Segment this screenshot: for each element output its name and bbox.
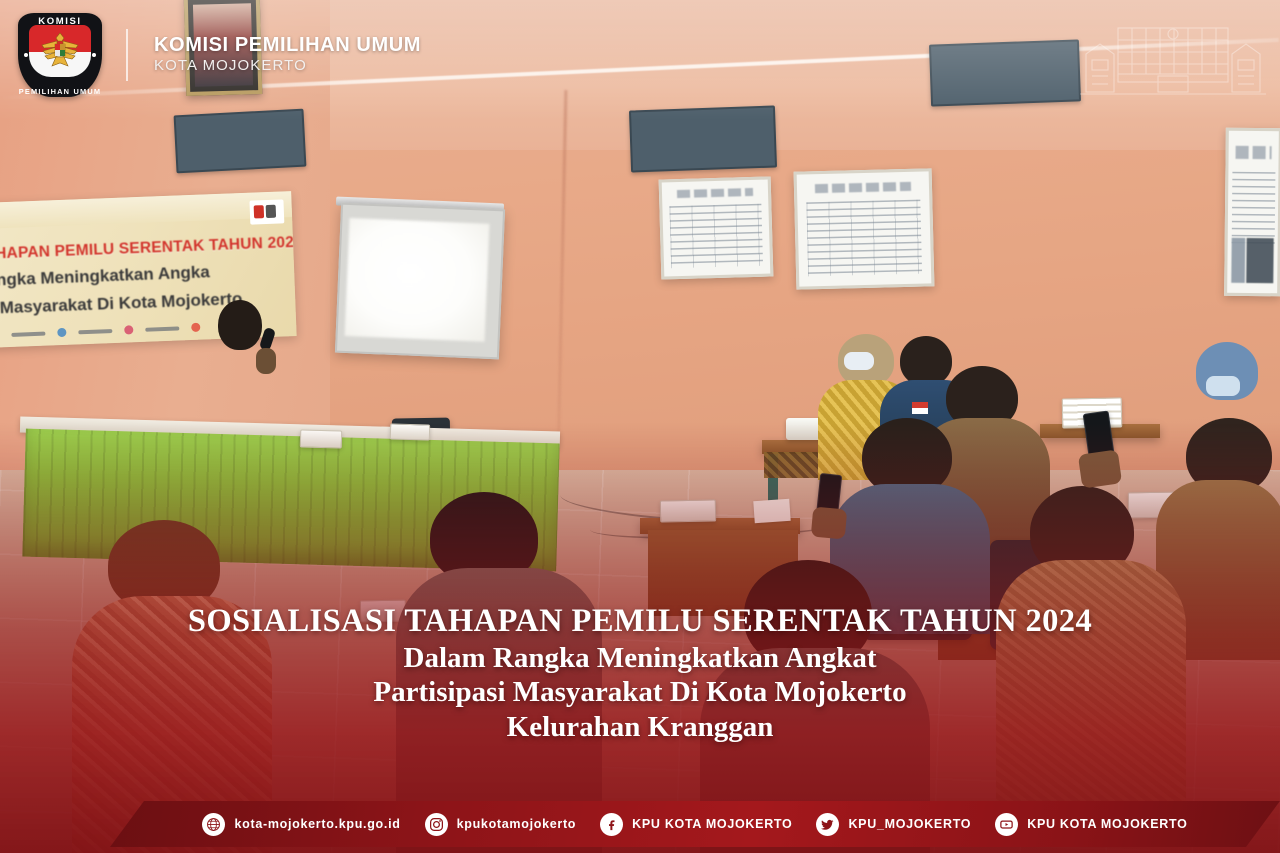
wall-data-board	[659, 176, 774, 279]
title-line-4: Kelurahan Kranggan	[0, 710, 1280, 745]
wall-notice-board	[1224, 128, 1280, 297]
title-line-1: SOSIALISASI TAHAPAN PEMILU SERENTAK TAHU…	[0, 602, 1280, 640]
hand	[256, 348, 276, 374]
social-link-globe[interactable]: kota-mojokerto.kpu.go.id	[202, 813, 400, 836]
banner-kpu-logo	[249, 199, 284, 224]
social-handle-label: KPU KOTA MOJOKERTO	[632, 817, 792, 831]
globe-icon	[202, 813, 225, 836]
social-link-facebook[interactable]: KPU KOTA MOJOKERTO	[600, 813, 792, 836]
attendee-head	[900, 336, 952, 386]
garuda-icon	[37, 29, 83, 69]
wall-vent-panel	[629, 105, 777, 172]
hand	[811, 507, 847, 540]
event-photo-card: TAHAPAN PEMILU SERENTAK TAHUN 2024 Rangk…	[0, 0, 1280, 853]
board-table-columns	[670, 203, 763, 268]
id-badge	[912, 402, 928, 414]
board-table-rows	[1231, 171, 1275, 244]
board-heading-lines	[815, 182, 910, 193]
wall-data-board	[794, 168, 935, 289]
banner-line-2: Rangka Meningkatkan Angka	[0, 260, 274, 292]
board-heading-lines	[1236, 145, 1272, 158]
banner-social-strip	[0, 323, 200, 340]
youtube-icon	[995, 813, 1018, 836]
org-identity: KOMISI PEMILIHAN UMUM KOTA MOJOKERTO	[154, 34, 421, 76]
snack-box	[390, 423, 430, 440]
social-links-container: kota-mojokerto.kpu.go.idkpukotamojokerto…	[110, 801, 1280, 847]
header-divider	[126, 29, 128, 81]
banner-line-1: TAHAPAN PEMILU SERENTAK TAHUN 2024	[0, 235, 275, 265]
event-title-block: SOSIALISASI TAHAPAN PEMILU SERENTAK TAHU…	[0, 602, 1280, 745]
face-mask	[1206, 376, 1240, 396]
snack-box	[300, 429, 342, 448]
paper-sheet	[753, 499, 790, 523]
speaker-head	[218, 300, 262, 350]
kpu-logo: KOMISI PEMILIHAN UMUM	[18, 13, 102, 97]
org-name: KOMISI PEMILIHAN UMUM	[154, 34, 421, 56]
social-handle-label: KPU_MOJOKERTO	[848, 817, 971, 831]
projected-light	[345, 218, 490, 342]
board-photos	[1231, 238, 1273, 284]
social-media-bar: kota-mojokerto.kpu.go.idkpukotamojokerto…	[0, 791, 1280, 853]
snack-box	[660, 500, 716, 523]
facebook-icon	[600, 813, 623, 836]
board-heading-lines	[677, 188, 753, 198]
projector-screen	[335, 203, 505, 360]
wall-vent-panel	[174, 109, 307, 174]
social-link-instagram[interactable]: kpukotamojokerto	[425, 813, 577, 836]
logo-top-label: KOMISI	[18, 16, 102, 27]
org-region: KOTA MOJOKERTO	[154, 56, 421, 76]
logo-inner-field	[29, 25, 91, 77]
board-table-columns	[807, 200, 922, 277]
social-handle-label: KPU KOTA MOJOKERTO	[1027, 817, 1187, 831]
social-handle-label: kota-mojokerto.kpu.go.id	[234, 817, 400, 831]
social-link-twitter[interactable]: KPU_MOJOKERTO	[816, 813, 971, 836]
twitter-icon	[816, 813, 839, 836]
hand	[1078, 449, 1122, 488]
social-handle-label: kpukotamojokerto	[457, 817, 577, 831]
instagram-icon	[425, 813, 448, 836]
header-bar: KOMISI PEMILIHAN UMUM KOMISI PEMILIHAN U…	[0, 0, 1280, 110]
title-line-2: Dalam Rangka Meningkatkan Angkat	[0, 641, 1280, 676]
social-link-youtube[interactable]: KPU KOTA MOJOKERTO	[995, 813, 1187, 836]
logo-arc-label: PEMILIHAN UMUM	[18, 87, 102, 96]
face-mask	[844, 352, 874, 370]
title-line-3: Partisipasi Masyarakat Di Kota Mojokerto	[0, 675, 1280, 710]
